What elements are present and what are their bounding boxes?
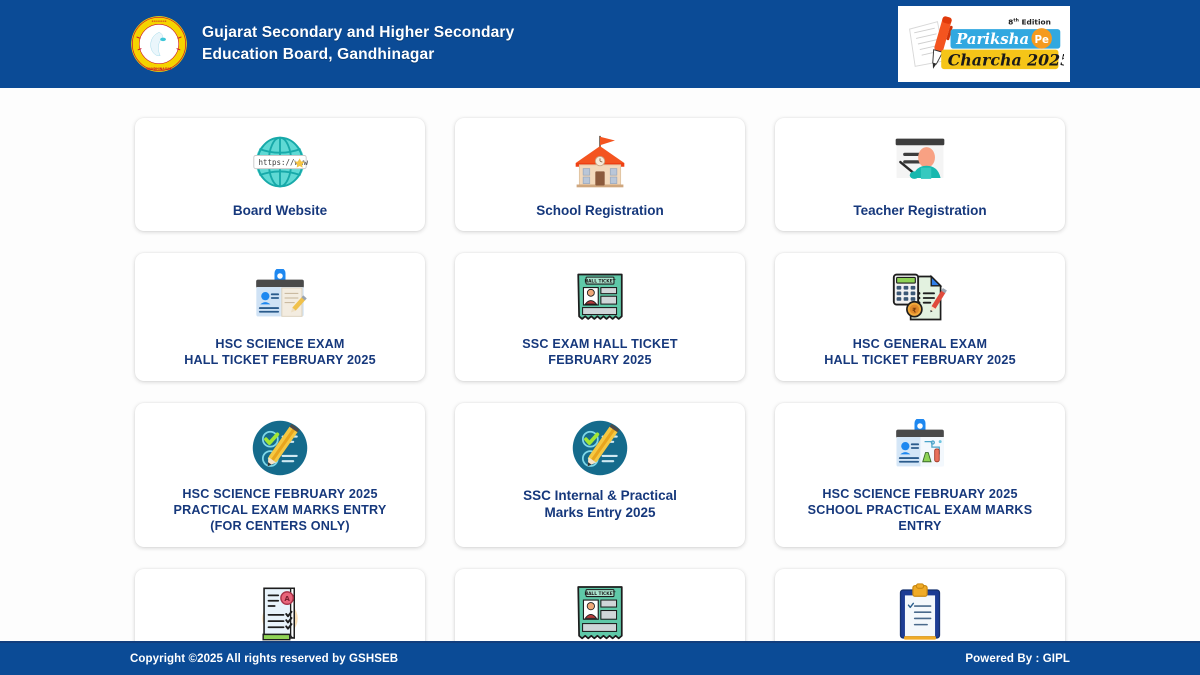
teacher-whiteboard-icon <box>884 132 956 194</box>
clipboard-checklist-icon <box>895 583 945 641</box>
pencil-checklist-circle-icon <box>250 417 310 479</box>
hall-ticket-icon: HALL TICKET <box>573 583 627 641</box>
card-label: HSC SCIENCE FEBRUARY 2025 SCHOOL PRACTIC… <box>808 487 1033 535</box>
hall-ticket-icon: HALL TICKET <box>573 267 627 329</box>
card-ssc-exam-hall-ticket[interactable]: HALL TICKET SSC EXAM HALL TICKET FEBRUAR… <box>455 253 745 381</box>
service-card-grid: https://www Board Website <box>135 88 1065 641</box>
card-teacher-registration[interactable]: Teacher Registration <box>775 118 1065 231</box>
svg-text:Charcha 2025: Charcha 2025 <box>948 50 1064 69</box>
card-label: Board Website <box>233 202 327 219</box>
svg-text:Pariksha: Pariksha <box>955 30 1029 48</box>
svg-text:₹: ₹ <box>912 307 917 315</box>
pariksha-pe-charcha-logo: 8th Edition Pariksha Pe Charcha 2025 <box>898 6 1070 82</box>
svg-text:••••••••: •••••••• <box>151 20 166 24</box>
svg-text:Pe: Pe <box>1034 35 1048 46</box>
header-title-line2: Education Board, Gandhinagar <box>202 44 514 66</box>
card-label: HSC SCIENCE FEBRUARY 2025 PRACTICAL EXAM… <box>173 487 386 535</box>
result-sheet-grade-icon: A <box>251 583 309 641</box>
header-title-block: Gujarat Secondary and Higher Secondary E… <box>202 22 514 66</box>
footer-copyright: Copyright ©2025 All rights reserved by G… <box>130 653 398 665</box>
hall-ticket-text: HALL TICKET <box>584 279 615 285</box>
grade-text: A <box>284 594 290 603</box>
card-result-sheet[interactable]: A <box>135 569 425 641</box>
card-label: HSC GENERAL EXAM HALL TICKET FEBRUARY 20… <box>824 337 1016 369</box>
card-hsc-science-practical-marks-entry-centers[interactable]: HSC SCIENCE FEBRUARY 2025 PRACTICAL EXAM… <box>135 403 425 547</box>
page-root: •••••••• GANDHINAGAR Gujarat Secondary a… <box>0 0 1200 675</box>
card-ssc-internal-practical-marks-entry[interactable]: SSC Internal & Practical Marks Entry 202… <box>455 403 745 547</box>
header-title-line1: Gujarat Secondary and Higher Secondary <box>202 22 514 44</box>
card-hsc-science-school-practical-marks-entry[interactable]: HSC SCIENCE FEBRUARY 2025 SCHOOL PRACTIC… <box>775 403 1065 547</box>
card-hsc-general-exam-hall-ticket[interactable]: ₹ HSC GENERAL EXAM HALL TICKET FEBRUARY … <box>775 253 1065 381</box>
card-school-registration[interactable]: School Registration <box>455 118 745 231</box>
card-label: HSC SCIENCE EXAM HALL TICKET FEBRUARY 20… <box>184 337 376 369</box>
card-label: School Registration <box>536 202 664 219</box>
site-header: •••••••• GANDHINAGAR Gujarat Secondary a… <box>0 0 1200 88</box>
calculator-document-icon: ₹ <box>886 267 954 329</box>
id-badge-science-icon <box>887 417 953 479</box>
card-hsc-science-exam-hall-ticket[interactable]: HSC SCIENCE EXAM HALL TICKET FEBRUARY 20… <box>135 253 425 381</box>
id-badge-icon <box>247 267 313 329</box>
globe-website-icon: https://www <box>244 132 316 194</box>
svg-text:GANDHINAGAR: GANDHINAGAR <box>146 67 172 71</box>
pencil-checklist-circle-icon <box>570 417 630 479</box>
main-content: https://www Board Website <box>0 88 1200 641</box>
card-hall-ticket-second[interactable]: HALL TICKET <box>455 569 745 641</box>
card-label: SSC Internal & Practical Marks Entry 202… <box>523 487 677 521</box>
card-label: SSC EXAM HALL TICKET FEBRUARY 2025 <box>522 337 678 369</box>
footer-powered-by: Powered By : GIPL <box>965 653 1070 665</box>
card-clipboard[interactable] <box>775 569 1065 641</box>
hall-ticket-text: HALL TICKET <box>584 591 615 597</box>
board-seal-icon: •••••••• GANDHINAGAR <box>130 15 188 73</box>
card-label: Teacher Registration <box>853 202 986 219</box>
card-board-website[interactable]: https://www Board Website <box>135 118 425 231</box>
site-footer: Copyright ©2025 All rights reserved by G… <box>0 641 1200 675</box>
school-building-icon <box>564 132 636 194</box>
